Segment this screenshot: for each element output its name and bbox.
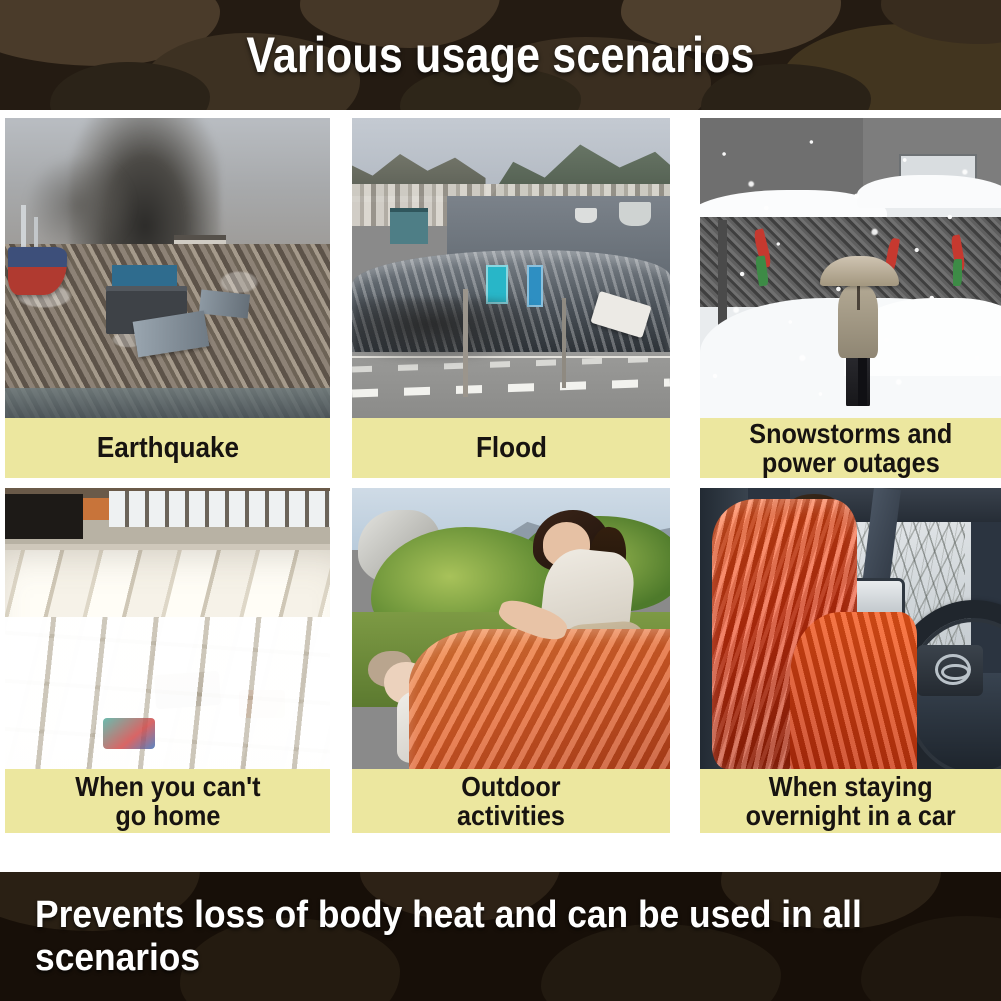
car-overnight-photo (700, 488, 1001, 769)
scenario-label-snowstorms: Snowstorms and power outages (700, 418, 1001, 478)
scenario-label-text: Flood (475, 433, 546, 463)
scenario-label-car-overnight: When staying overnight in a car (700, 769, 1001, 833)
scenario-label-cant-go-home: When you can't go home (5, 769, 330, 833)
scenario-label-line2: overnight in a car (745, 801, 955, 830)
scenario-card-cant-go-home[interactable]: When you can't go home (5, 488, 330, 833)
page-title: Various usage scenarios (70, 0, 931, 110)
flood-tsunami-wave-photo (352, 118, 670, 418)
product-infographic: Various usage scenarios (0, 0, 1001, 1001)
outdoor-activities-rescue-photo (352, 488, 670, 769)
scenario-label-flood: Flood (352, 418, 670, 478)
scenario-label-line2: go home (75, 801, 260, 830)
scenario-card-flood[interactable]: Flood (352, 118, 670, 478)
footer-tagline: Prevents loss of body heat and can be us… (35, 872, 966, 1001)
scenario-label-earthquake: Earthquake (5, 418, 330, 478)
scenario-label-line1: Outdoor (457, 772, 565, 801)
evacuation-shelter-photo (5, 488, 330, 769)
scenario-card-snowstorms[interactable]: Snowstorms and power outages (700, 118, 1001, 478)
scenario-label-line1: When you can't (75, 772, 260, 801)
footer-banner: Prevents loss of body heat and can be us… (0, 872, 1001, 1001)
scenario-label-outdoor: Outdoor activities (352, 769, 670, 833)
scenario-card-car-overnight[interactable]: When staying overnight in a car (700, 488, 1001, 833)
snowstorm-power-outage-photo (700, 118, 1001, 418)
header-banner: Various usage scenarios (0, 0, 1001, 110)
scenario-label-text: Earthquake (96, 433, 238, 463)
scenario-card-outdoor[interactable]: Outdoor activities (352, 488, 670, 833)
earthquake-tsunami-destruction-photo (5, 118, 330, 418)
scenario-card-earthquake[interactable]: Earthquake (5, 118, 330, 478)
scenario-label-line1: Snowstorms and (749, 419, 952, 448)
scenario-label-line2: power outages (749, 448, 952, 477)
scenario-grid: Earthquake (0, 110, 1001, 872)
scenario-label-line1: When staying (745, 772, 955, 801)
scenario-label-line2: activities (457, 801, 565, 830)
